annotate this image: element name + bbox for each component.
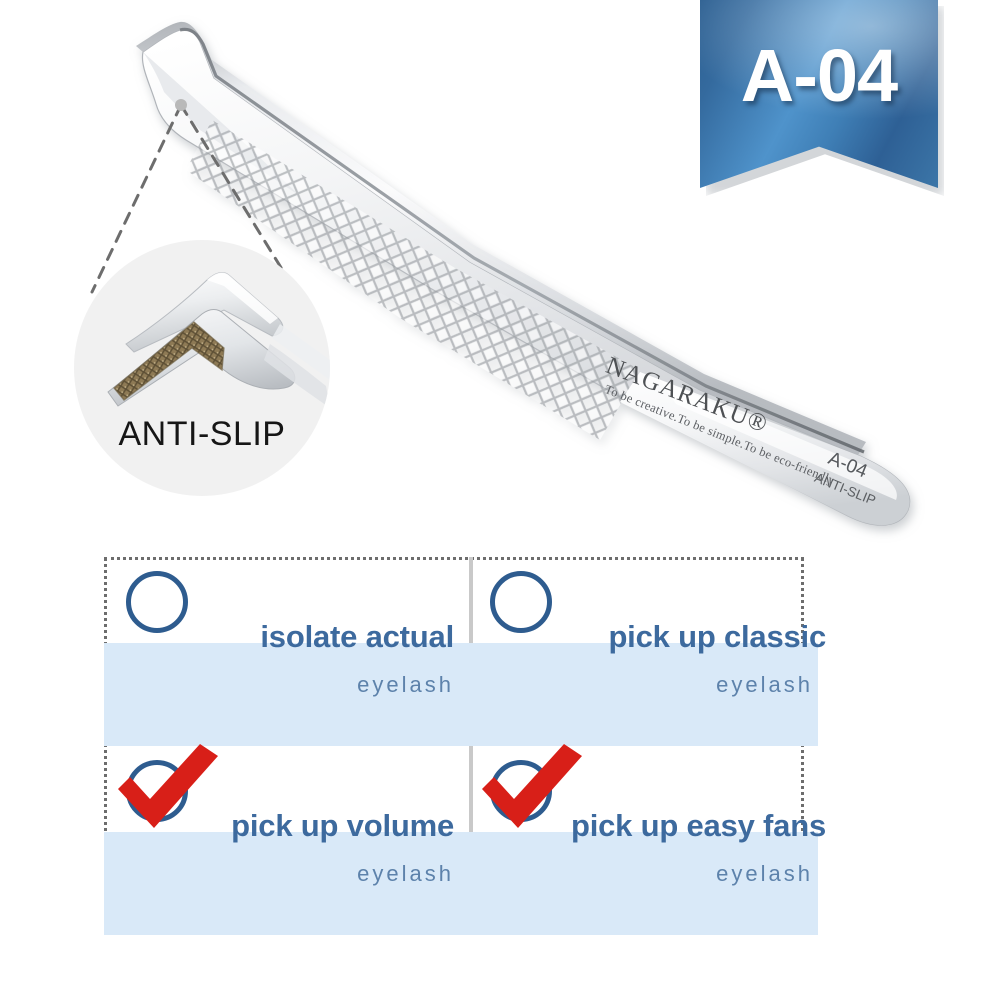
magnified-tip-graphic	[74, 240, 330, 496]
feature-title: pick up volume	[104, 808, 454, 844]
anti-slip-magnifier-circle	[74, 240, 330, 496]
feature-subtitle: eyelash	[468, 861, 813, 887]
feature-subtitle: eyelash	[104, 861, 454, 887]
feature-cell-pick-up-easy-fans: pick up easy fans eyelash	[468, 746, 818, 935]
feature-title: isolate actual	[104, 619, 454, 655]
feature-subtitle: eyelash	[104, 672, 454, 698]
callout-anchor-dot	[175, 99, 187, 111]
anti-slip-label: ANTI-SLIP	[74, 415, 330, 454]
feature-cell-isolate-actual: isolate actual eyelash	[104, 557, 454, 746]
product-image-canvas: A-04	[0, 0, 1000, 1000]
feature-title: pick up easy fans	[468, 808, 826, 844]
feature-subtitle: eyelash	[468, 672, 813, 698]
feature-title: pick up classic	[468, 619, 826, 655]
feature-cell-pick-up-classic: pick up classic eyelash	[468, 557, 818, 746]
feature-cell-pick-up-volume: pick up volume eyelash	[104, 746, 454, 935]
